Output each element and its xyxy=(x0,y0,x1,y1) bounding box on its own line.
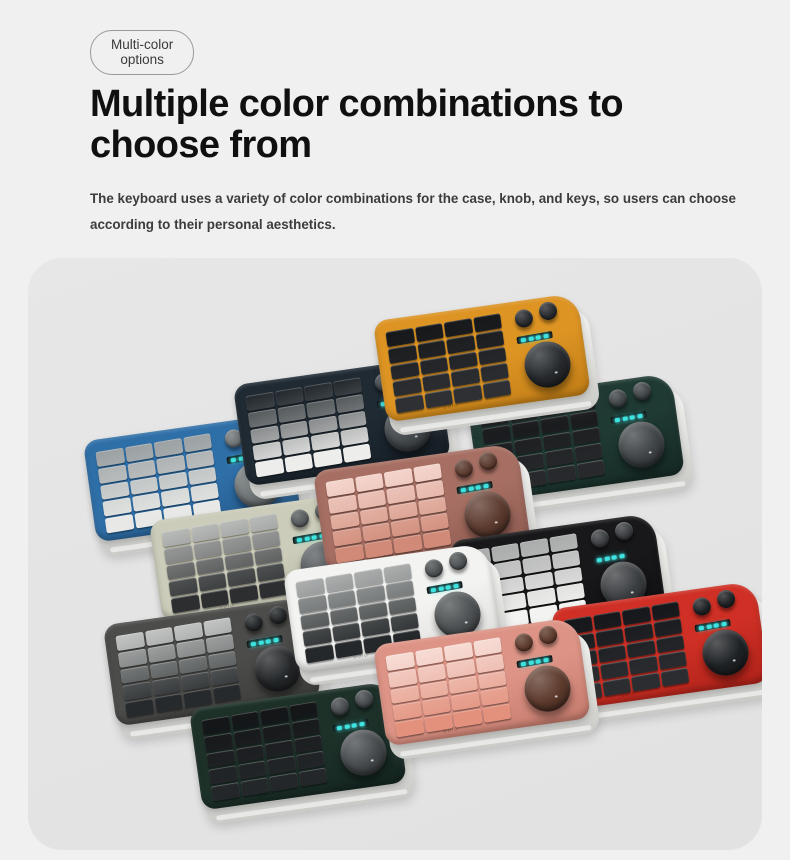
keycap[interactable] xyxy=(115,632,144,651)
keycap[interactable] xyxy=(125,443,154,462)
keycap[interactable] xyxy=(98,464,127,483)
small-knob-b[interactable] xyxy=(268,605,288,625)
rotary-knob[interactable] xyxy=(338,727,390,779)
brand-logo: DOIO xyxy=(173,706,189,714)
keyboard-key-grid[interactable] xyxy=(161,513,287,613)
led-segment xyxy=(438,586,443,591)
keycap[interactable] xyxy=(511,420,540,439)
keycap[interactable] xyxy=(171,594,200,613)
keycap[interactable] xyxy=(125,698,154,717)
led-segment xyxy=(706,624,711,629)
keycap[interactable] xyxy=(473,637,502,656)
led-segment xyxy=(231,457,236,462)
keyboard-key-grid[interactable] xyxy=(201,701,327,801)
led-segment xyxy=(543,657,548,662)
keycap[interactable] xyxy=(275,387,304,406)
keycap[interactable] xyxy=(540,415,569,434)
keycap[interactable] xyxy=(593,611,622,630)
keycap[interactable] xyxy=(624,623,653,642)
keycap[interactable] xyxy=(291,718,320,737)
brand-logo: DOIO xyxy=(443,726,459,734)
led-segment xyxy=(468,486,473,491)
keycap[interactable] xyxy=(444,642,473,661)
led-segment xyxy=(637,413,642,418)
keycap[interactable] xyxy=(305,644,334,663)
keycap[interactable] xyxy=(222,535,251,554)
keycap[interactable] xyxy=(211,782,240,801)
page-description: The keyboard uses a variety of color com… xyxy=(90,186,738,238)
keycap[interactable] xyxy=(383,563,412,582)
keycap[interactable] xyxy=(576,460,605,479)
small-knob-b[interactable] xyxy=(478,451,498,471)
led-segment xyxy=(528,660,533,665)
keycap[interactable] xyxy=(653,618,682,637)
keycap[interactable] xyxy=(444,318,473,337)
brand-logo: DOIO xyxy=(443,402,459,410)
led-segment xyxy=(461,487,466,492)
small-knob-a[interactable] xyxy=(514,308,534,328)
led-segment xyxy=(699,625,704,630)
keycap[interactable] xyxy=(325,478,354,497)
keyboard-stage: DOIODOIODOIODOIODOIODOIODOIODOIODOIODOIO… xyxy=(28,258,762,850)
led-segment xyxy=(521,661,526,666)
keycap[interactable] xyxy=(357,490,386,509)
led-segment xyxy=(251,641,256,646)
keycap[interactable] xyxy=(660,668,689,687)
keycap[interactable] xyxy=(395,718,424,737)
keycap[interactable] xyxy=(384,468,413,487)
keycap[interactable] xyxy=(475,330,504,349)
keycap[interactable] xyxy=(245,392,274,411)
keycap[interactable] xyxy=(212,684,241,703)
keyboard-key-grid[interactable] xyxy=(385,313,511,413)
keycap[interactable] xyxy=(156,455,185,474)
keycap[interactable] xyxy=(482,380,511,399)
keycap[interactable] xyxy=(289,701,318,720)
keycap[interactable] xyxy=(201,716,230,735)
keycap[interactable] xyxy=(453,385,482,404)
keycap[interactable] xyxy=(325,573,354,592)
keycap[interactable] xyxy=(549,533,578,552)
keycap[interactable] xyxy=(295,578,324,597)
small-knob-a[interactable] xyxy=(424,558,444,578)
small-knob-b[interactable] xyxy=(632,381,652,401)
keycap[interactable] xyxy=(327,590,356,609)
rotary-knob[interactable] xyxy=(522,663,574,715)
keycap[interactable] xyxy=(473,313,502,332)
led-segment xyxy=(622,416,627,421)
brand-logo: DOIO xyxy=(259,790,275,798)
keycap[interactable] xyxy=(522,555,551,574)
keycap[interactable] xyxy=(417,664,446,683)
led-segment xyxy=(258,640,263,645)
keycap[interactable] xyxy=(385,580,414,599)
keycap[interactable] xyxy=(395,394,424,413)
keycap[interactable] xyxy=(393,535,422,554)
keycap[interactable] xyxy=(333,377,362,396)
led-segment xyxy=(352,723,357,728)
keycap[interactable] xyxy=(277,404,306,423)
keycap[interactable] xyxy=(147,644,176,663)
keycap[interactable] xyxy=(205,634,234,653)
keycap[interactable] xyxy=(233,728,262,747)
led-segment xyxy=(721,621,726,626)
small-knob-b[interactable] xyxy=(614,521,634,541)
keycap[interactable] xyxy=(446,659,475,678)
keycap[interactable] xyxy=(356,585,385,604)
led-segment xyxy=(604,556,609,561)
keycap[interactable] xyxy=(220,518,249,537)
keycap[interactable] xyxy=(355,473,384,492)
keycap[interactable] xyxy=(417,340,446,359)
keyboard-key-grid[interactable] xyxy=(325,463,451,563)
keycap[interactable] xyxy=(298,768,327,787)
keycap[interactable] xyxy=(413,463,442,482)
keycap[interactable] xyxy=(231,711,260,730)
keycap[interactable] xyxy=(191,523,220,542)
keycap[interactable] xyxy=(453,709,482,728)
multi-color-options-badge: Multi-color options xyxy=(90,30,194,75)
keycap[interactable] xyxy=(258,580,287,599)
keycap[interactable] xyxy=(385,328,414,347)
keycap[interactable] xyxy=(255,458,284,477)
led-segment xyxy=(615,417,620,422)
keycap[interactable] xyxy=(105,514,134,533)
keycap[interactable] xyxy=(185,450,214,469)
keycap[interactable] xyxy=(622,606,651,625)
page-title: Multiple color combinations to choose fr… xyxy=(90,84,700,167)
keycap[interactable] xyxy=(298,594,327,613)
led-segment xyxy=(312,535,317,540)
small-knob-b[interactable] xyxy=(448,551,468,571)
keycap[interactable] xyxy=(249,513,278,532)
led-segment xyxy=(597,557,602,562)
small-knob-b[interactable] xyxy=(354,689,374,709)
keycap[interactable] xyxy=(269,773,298,792)
keycap[interactable] xyxy=(183,433,212,452)
led-segment xyxy=(273,637,278,642)
keycap[interactable] xyxy=(386,485,415,504)
led-segment xyxy=(266,639,271,644)
keycap[interactable] xyxy=(262,723,291,742)
keycap[interactable] xyxy=(595,628,624,647)
keycap[interactable] xyxy=(482,424,511,443)
keycap[interactable] xyxy=(176,639,205,658)
keycap[interactable] xyxy=(260,706,289,725)
keycap[interactable] xyxy=(475,654,504,673)
keycap[interactable] xyxy=(551,550,580,569)
keycap[interactable] xyxy=(651,601,680,620)
keycap[interactable] xyxy=(127,460,156,479)
small-knob-a[interactable] xyxy=(290,508,310,528)
led-segment xyxy=(536,659,541,664)
keycap[interactable] xyxy=(569,410,598,429)
led-segment xyxy=(612,555,617,560)
keyboard-color-gallery: DOIODOIODOIODOIODOIODOIODOIODOIODOIODOIO… xyxy=(28,258,762,850)
keycap[interactable] xyxy=(354,568,383,587)
keycap[interactable] xyxy=(313,449,342,468)
led-segment xyxy=(431,587,436,592)
keyboard-key-grid[interactable] xyxy=(385,637,511,737)
keycap[interactable] xyxy=(193,540,222,559)
keycap[interactable] xyxy=(118,648,147,667)
led-segment xyxy=(521,337,526,342)
keycap[interactable] xyxy=(145,627,174,646)
led-segment xyxy=(619,553,624,558)
brand-logo: DOIO xyxy=(353,652,369,660)
led-segment xyxy=(359,721,364,726)
keycap[interactable] xyxy=(520,538,549,557)
led-segment xyxy=(543,333,548,338)
led-segment xyxy=(344,724,349,729)
led-segment xyxy=(630,415,635,420)
keycap[interactable] xyxy=(446,335,475,354)
led-segment xyxy=(297,537,302,542)
led-segment xyxy=(483,483,488,488)
led-segment xyxy=(528,336,533,341)
led-segment xyxy=(476,485,481,490)
keycap[interactable] xyxy=(422,530,451,549)
keycap[interactable] xyxy=(335,394,364,413)
badge-line-1: Multi-color xyxy=(111,37,173,52)
small-knob-a[interactable] xyxy=(608,388,628,408)
small-knob-b[interactable] xyxy=(538,301,558,321)
keycap[interactable] xyxy=(161,528,190,547)
small-knob-a[interactable] xyxy=(244,612,264,632)
led-segment xyxy=(453,583,458,588)
keycap[interactable] xyxy=(547,465,576,484)
keycap[interactable] xyxy=(164,544,193,563)
led-segment xyxy=(536,335,541,340)
small-knob-a[interactable] xyxy=(454,458,474,478)
rotary-knob[interactable] xyxy=(700,627,752,679)
keycap[interactable] xyxy=(388,344,417,363)
rotary-knob[interactable] xyxy=(616,419,668,471)
keycap[interactable] xyxy=(154,438,183,457)
keycap[interactable] xyxy=(203,617,232,636)
small-knob-a[interactable] xyxy=(330,696,350,716)
led-segment xyxy=(304,536,309,541)
small-knob-b[interactable] xyxy=(716,589,736,609)
brand-logo: DOIO xyxy=(537,482,553,490)
keycap[interactable] xyxy=(248,408,277,427)
keycap[interactable] xyxy=(385,652,414,671)
keycap[interactable] xyxy=(174,622,203,641)
keycap[interactable] xyxy=(482,704,511,723)
keycap[interactable] xyxy=(183,689,212,708)
keycap[interactable] xyxy=(328,494,357,513)
led-segment xyxy=(337,725,342,730)
keyboard-key-grid[interactable] xyxy=(245,377,371,477)
keycap[interactable] xyxy=(306,399,335,418)
led-segment xyxy=(446,585,451,590)
keycap[interactable] xyxy=(304,382,333,401)
keycap[interactable] xyxy=(415,647,444,666)
small-knob-a[interactable] xyxy=(590,528,610,548)
keycap[interactable] xyxy=(95,448,124,467)
keycap[interactable] xyxy=(204,732,233,751)
rotary-knob[interactable] xyxy=(522,339,574,391)
small-knob-a[interactable] xyxy=(514,632,534,652)
small-knob-a[interactable] xyxy=(692,596,712,616)
keycap[interactable] xyxy=(251,530,280,549)
keyboard-key-grid[interactable] xyxy=(115,617,241,717)
badge-line-2: options xyxy=(111,52,173,67)
keycap[interactable] xyxy=(229,585,258,604)
keycap[interactable] xyxy=(631,673,660,692)
keycap[interactable] xyxy=(415,480,444,499)
keycap[interactable] xyxy=(342,444,371,463)
brand-logo: DOIO xyxy=(621,690,637,698)
keycap[interactable] xyxy=(388,668,417,687)
small-knob-b[interactable] xyxy=(538,625,558,645)
led-segment xyxy=(714,623,719,628)
keycap[interactable] xyxy=(415,323,444,342)
